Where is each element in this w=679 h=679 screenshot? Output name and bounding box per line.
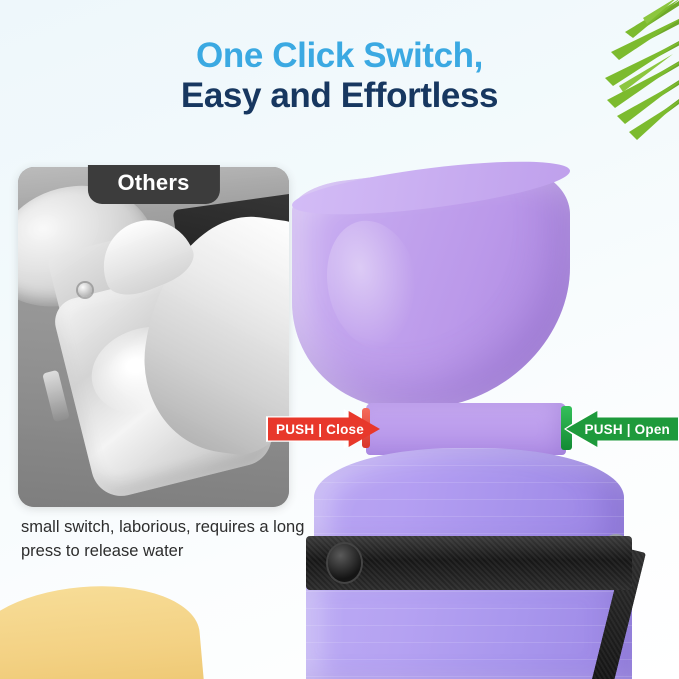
headline-line-1: One Click Switch, xyxy=(0,36,679,76)
photo-small-switch xyxy=(78,283,92,297)
others-label-badge: Others xyxy=(87,165,219,204)
comparison-card-others: Others xyxy=(18,167,289,507)
headline-line-2: Easy and Effortless xyxy=(0,76,679,116)
callout-open-label: PUSH | Open xyxy=(585,422,671,437)
product-strap-band xyxy=(306,536,632,590)
callout-close-label: PUSH | Close xyxy=(276,422,364,437)
strap-snap-button[interactable] xyxy=(328,544,361,582)
infographic-canvas: One Click Switch, Easy and Effortless Ot… xyxy=(0,0,679,679)
comparison-caption: small switch, laborious, requires a long… xyxy=(21,516,311,564)
competitor-bottle-photo xyxy=(18,167,289,507)
page-title: One Click Switch, Easy and Effortless xyxy=(0,36,679,116)
sand-dune-decoration xyxy=(0,577,204,679)
